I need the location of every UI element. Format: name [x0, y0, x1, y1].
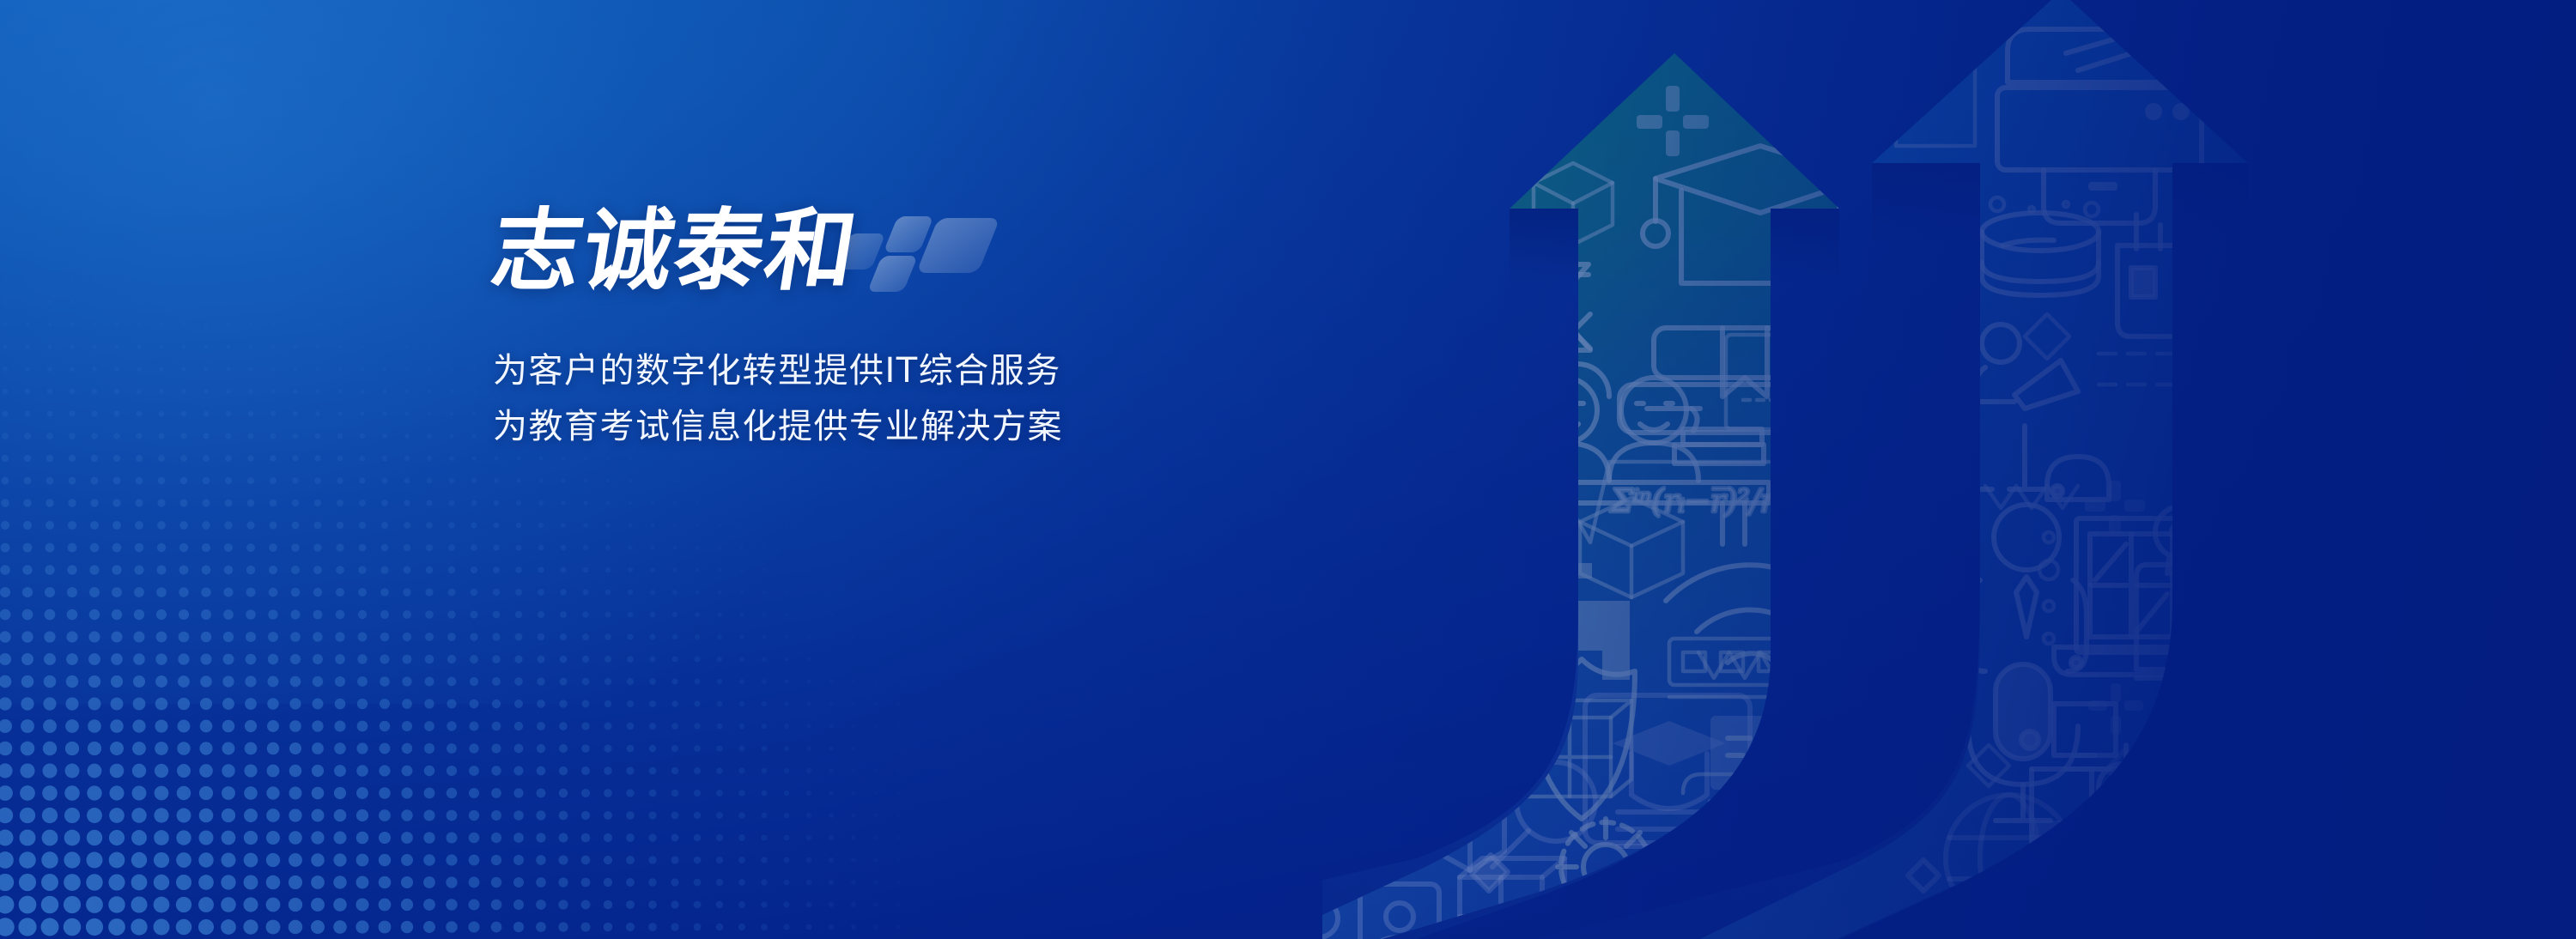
database-icon	[2092, 810, 2181, 877]
wireframe-cube-icon-3	[1527, 700, 1631, 797]
svg-text:AI: AI	[2210, 691, 2262, 742]
ai-badge-icon: AI	[2167, 678, 2291, 747]
tagline-block: 为客户的数字化转型提供IT综合服务 为教育考试信息化提供专业解决方案	[493, 343, 1437, 455]
it-services-arrow: AI	[1700, 0, 2301, 939]
svg-text:Σⁱⁿ(rᵢ−r̅)²/n: Σⁱⁿ(rᵢ−r̅)²/n	[1609, 484, 1780, 519]
database-icon	[1982, 213, 2099, 295]
projector-icon	[2030, 764, 2226, 891]
wireframe-cube-icon	[1534, 163, 1613, 245]
background-vignette	[0, 0, 2576, 939]
bell-lamp-icon	[2047, 457, 2109, 500]
tagline-line-2: 为教育考试信息化提供专业解决方案	[493, 399, 1437, 455]
waveform-icon	[1985, 486, 2078, 508]
plus-icon-2	[2088, 683, 2143, 735]
printer-icon	[1997, 17, 2202, 223]
monitor-icon	[1683, 774, 1882, 915]
education-arrow: Σⁱⁿ(rᵢ−r̅)²/n	[1322, 53, 1882, 939]
wireframe-cube-icon-2	[1460, 858, 1564, 939]
sparkle-icon	[1908, 750, 2142, 891]
clipboard-icon	[2193, 208, 2298, 342]
wireframe-cube-icon-2	[1580, 498, 1683, 597]
page-title: 志诚泰和	[486, 206, 864, 295]
hero-copy: 志诚泰和	[493, 199, 1437, 455]
paper-plane-icon	[2190, 664, 2262, 740]
globe-search-icon	[1946, 795, 2093, 936]
paper-tray-icon	[1872, 51, 1975, 146]
sparkle-icon	[1503, 740, 1534, 771]
dashes-decor	[2099, 354, 2174, 385]
standard-deviation-formula-icon: Σⁱⁿ(rᵢ−r̅)²/n	[1577, 462, 1780, 542]
brand-row: 志诚泰和	[493, 199, 1437, 302]
id-card-icon	[1322, 884, 1439, 939]
parallelogram-logo-mark	[840, 211, 1012, 295]
office-desk-icon	[2032, 704, 2148, 870]
sparkle-icon	[1522, 378, 1563, 417]
window-pane-icon	[2039, 518, 2210, 675]
students-icon-detail	[1508, 378, 1769, 544]
magnifier-icon	[1472, 762, 1595, 891]
pen-holder-icon	[2117, 215, 2196, 336]
video-call-icon	[2136, 565, 2301, 678]
dots-decor	[2143, 767, 2246, 785]
it-arrow-shadow-right	[2172, 163, 2248, 244]
dashes-decor-2	[2183, 766, 2250, 793]
plus-icon-2	[1511, 477, 1575, 537]
shield-icon	[1528, 659, 1635, 819]
education-arrow-shadow-right	[1771, 209, 1839, 283]
education-arrow-icons: Σⁱⁿ(rᵢ−r̅)²/n	[1508, 86, 1882, 939]
graduation-cap-icon	[1643, 146, 1865, 283]
desk-worker-icon	[1922, 324, 2078, 494]
webcam-icon	[2155, 506, 2207, 573]
sparkle-icon	[2025, 314, 2069, 359]
dots-decor	[1990, 197, 2099, 216]
presentation-chart-icon	[2208, 865, 2329, 939]
certificate-icon	[1645, 922, 1808, 939]
arrow-artwork: .ico { fill:none; stroke:#a9cdea; stroke…	[1322, 0, 2576, 939]
it-arrow-trail	[1537, 558, 2172, 939]
certificate-icon	[1585, 695, 1750, 846]
microphone-icon	[1968, 664, 2078, 821]
education-arrow-trail	[1322, 601, 1771, 939]
plus-icon	[2085, 481, 2145, 536]
sigma-sum-icon	[1528, 257, 1590, 350]
books-icon	[1619, 328, 1846, 433]
gear-icon	[1558, 819, 1654, 915]
video-play-icon	[2200, 397, 2301, 476]
arrow-foot-icon-field: .fi { fill:none; stroke:#cfe2f5; stroke-…	[1322, 0, 2576, 939]
students-icon	[1544, 364, 1609, 397]
wifi-signal-icon	[1666, 565, 1834, 663]
folder-window-icon	[1923, 915, 2066, 939]
waveform-icon	[1698, 652, 1791, 678]
it-arrow-icons: AI	[1872, 17, 2301, 891]
sparkle-icon-2	[1968, 745, 2009, 786]
it-arrow-shadow	[1872, 163, 1980, 244]
server-rack-icon	[1669, 639, 1838, 697]
plus-icon	[1637, 86, 1709, 156]
wireframe-cube-icon	[1436, 795, 1504, 870]
school-building-icon	[1513, 563, 1630, 680]
education-arrow-shadow	[1510, 209, 1578, 283]
document-edit-icon	[1710, 716, 1822, 802]
hero-banner: .ico { fill:none; stroke:#a9cdea; stroke…	[0, 0, 2576, 939]
whiteboard-icon	[1726, 335, 1846, 429]
tagline-line-1: 为客户的数字化转型提供IT综合服务	[493, 343, 1437, 399]
person-tie-icon	[1966, 505, 2087, 671]
